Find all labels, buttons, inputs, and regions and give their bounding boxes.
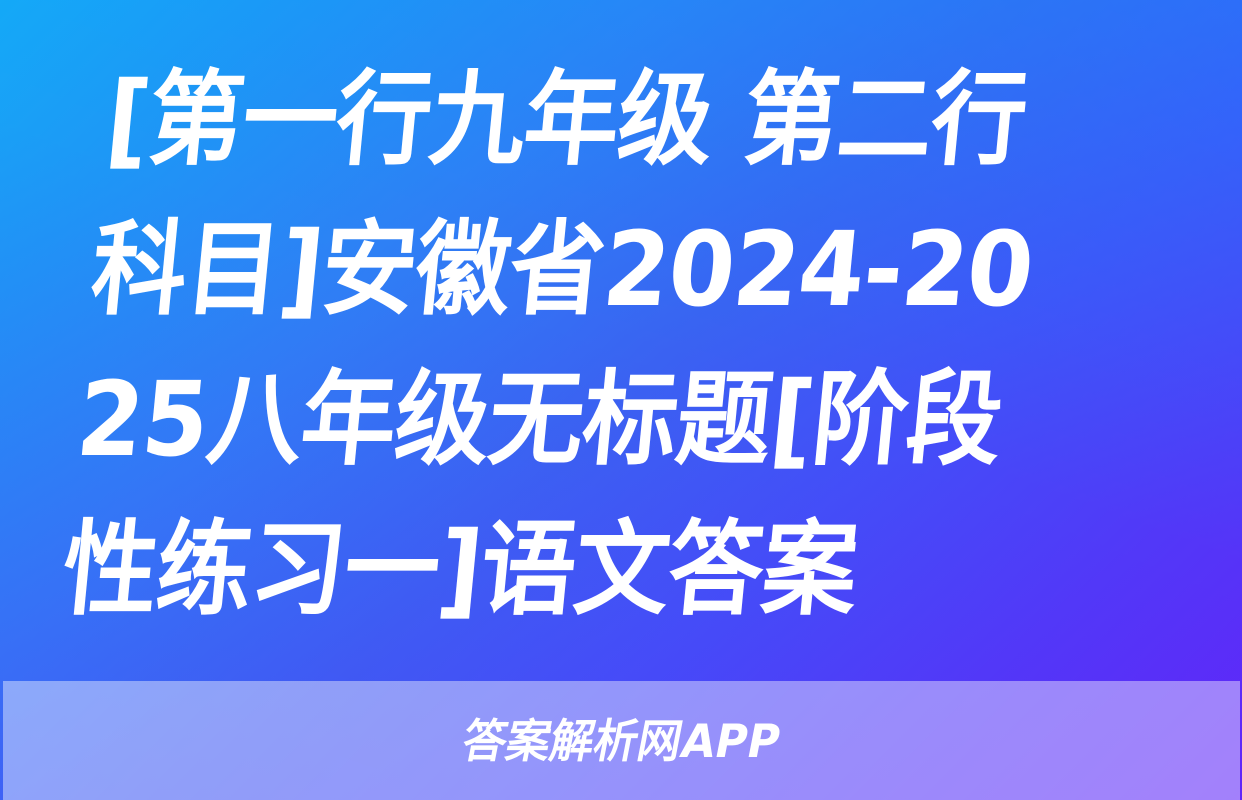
brand-name: 答案解析网APP [459, 718, 784, 764]
headline-container: [第一行九年级 第二行科目]安徽省2024-2025八年级无标题[阶段性练习一]… [0, 0, 1242, 690]
page-title: [第一行九年级 第二行科目]安徽省2024-2025八年级无标题[阶段性练习一]… [56, 45, 1100, 645]
promo-card: [第一行九年级 第二行科目]安徽省2024-2025八年级无标题[阶段性练习一]… [0, 0, 1242, 800]
footer-brand-band: 答案解析网APP [3, 681, 1240, 800]
